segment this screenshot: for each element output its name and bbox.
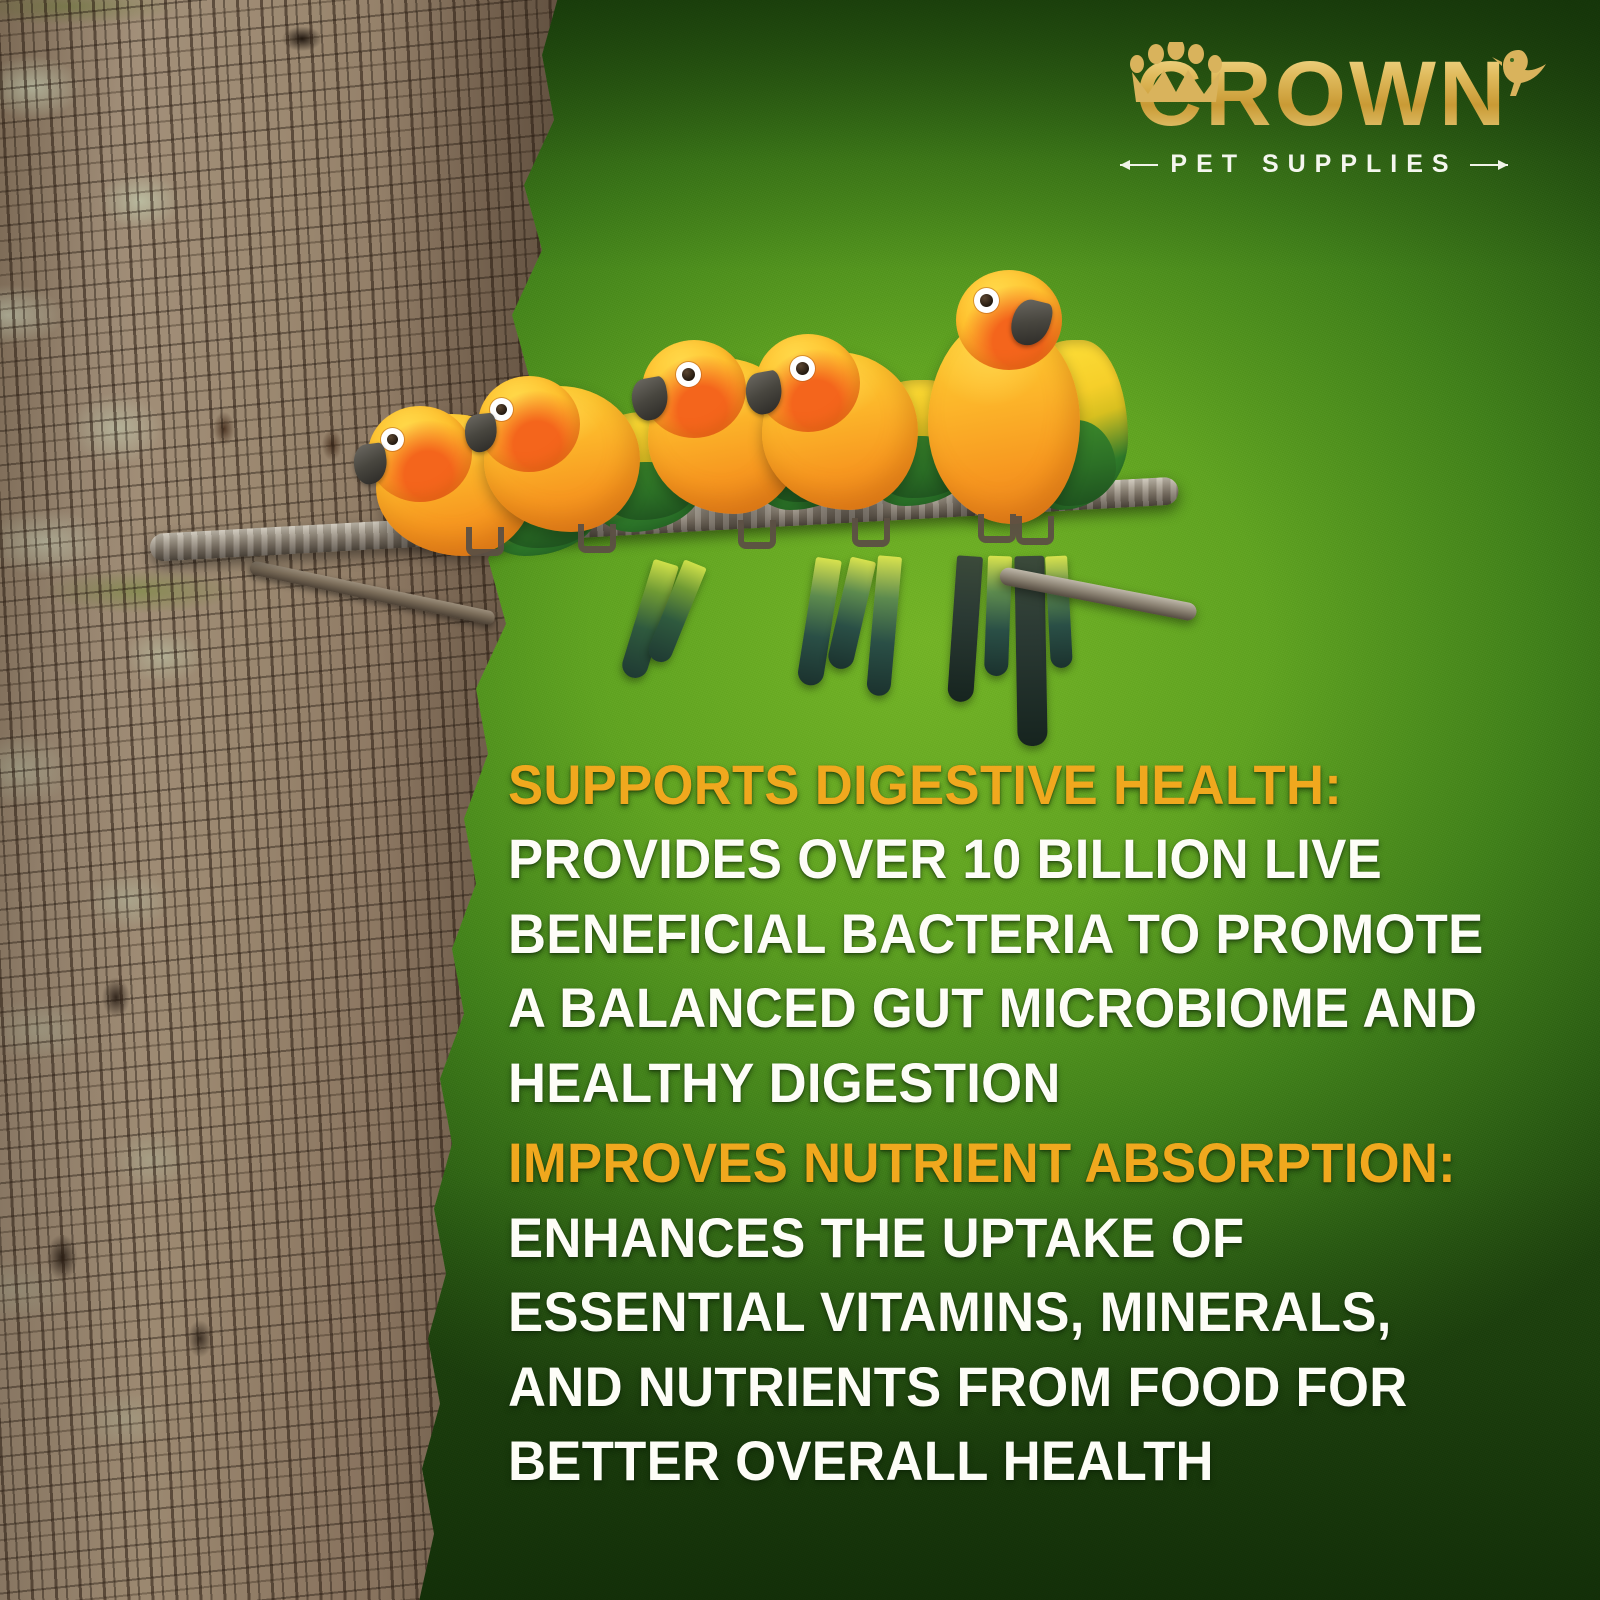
arrow-left-icon bbox=[1120, 164, 1158, 166]
parrot-foot bbox=[578, 524, 616, 553]
parrot-foot bbox=[1016, 516, 1054, 545]
benefit-1: SUPPORTS DIGESTIVE HEALTH: PROVIDES OVER… bbox=[508, 748, 1514, 1120]
brand-logo[interactable]: CROWN PET SUPPLIES bbox=[1074, 48, 1554, 179]
parrot-foot bbox=[466, 527, 504, 556]
benefit-2-heading: IMPROVES NUTRIENT ABSORPTION: bbox=[508, 1131, 1456, 1194]
benefit-1-body: PROVIDES OVER 10 BILLION LIVE BENEFICIAL… bbox=[508, 827, 1484, 1113]
arrow-right-icon bbox=[1470, 164, 1508, 166]
parrot-eye bbox=[676, 362, 701, 387]
brand-tagline: PET SUPPLIES bbox=[1170, 150, 1457, 179]
benefit-1-heading: SUPPORTS DIGESTIVE HEALTH: bbox=[508, 753, 1342, 816]
benefit-2-body: ENHANCES THE UPTAKE OF ESSENTIAL VITAMIN… bbox=[508, 1206, 1408, 1492]
brand-tagline-row: PET SUPPLIES bbox=[1074, 150, 1554, 179]
benefit-2: IMPROVES NUTRIENT ABSORPTION: ENHANCES T… bbox=[508, 1126, 1514, 1498]
parrot-eye bbox=[974, 288, 999, 313]
crown-icon bbox=[1128, 42, 1224, 104]
parrot-foot bbox=[852, 518, 890, 547]
benefits-copy-block: SUPPORTS DIGESTIVE HEALTH: PROVIDES OVER… bbox=[508, 748, 1578, 1499]
parrot-eye bbox=[790, 356, 815, 381]
product-benefit-poster: CROWN PET SUPPLIES SUPPORTS DIGESTIVE HE… bbox=[0, 0, 1600, 1600]
parrot-foot bbox=[978, 514, 1016, 543]
perched-bird-icon bbox=[1488, 44, 1548, 114]
parrot-foot bbox=[738, 520, 776, 549]
parrot-eye bbox=[381, 428, 404, 451]
